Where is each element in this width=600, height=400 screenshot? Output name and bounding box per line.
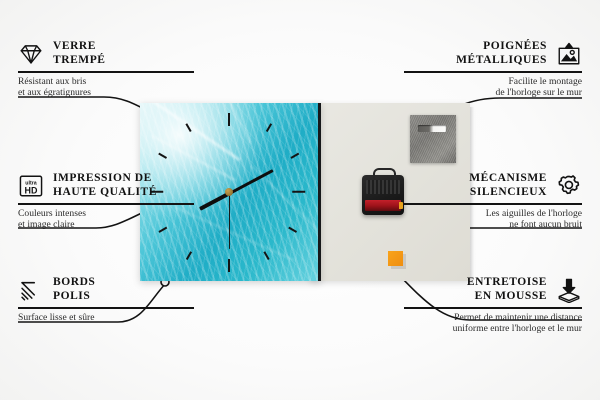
clock-tick <box>158 153 167 159</box>
metal-hanger-plate <box>410 115 456 163</box>
clock-movement <box>362 175 404 215</box>
feather-streak <box>140 103 241 161</box>
feature-impression-haute-qualite: ultra HD IMPRESSION DE HAUTE QUALITÉ Cou… <box>18 172 194 231</box>
feature-title: VERRE TREMPÉ <box>53 40 106 67</box>
feature-entretoise-en-mousse: ENTRETOISE EN MOUSSE Permet de maintenir… <box>404 276 582 335</box>
divider <box>404 307 582 309</box>
feature-title: POIGNÉES MÉTALLIQUES <box>456 40 547 67</box>
feature-desc: Les aiguilles de l'horloge ne font aucun… <box>404 208 582 231</box>
battery <box>365 200 401 211</box>
clock-tick <box>186 251 192 260</box>
divider <box>18 203 194 205</box>
feature-desc: Résistant aux bris et aux égratignures <box>18 76 194 99</box>
clock-tick <box>288 227 297 233</box>
movement-ridges <box>366 180 400 194</box>
feature-desc: Facilite le montage de l'horloge sur le … <box>404 76 582 99</box>
feature-title: MÉCANISME SILENCIEUX <box>469 172 547 199</box>
clock-tick <box>292 191 305 193</box>
ultra-hd-icon: ultra HD <box>18 173 44 199</box>
feature-mecanisme-silencieux: MÉCANISME SILENCIEUX Les aiguilles de l'… <box>404 172 582 231</box>
hanger-keyhole-slot <box>418 125 446 132</box>
clock-tick <box>228 113 230 126</box>
foam-spacer <box>388 251 403 266</box>
divider <box>404 203 582 205</box>
polished-edges-icon <box>18 277 44 303</box>
feature-title: ENTRETOISE EN MOUSSE <box>467 276 547 303</box>
clock-tick <box>264 251 270 260</box>
feature-title: BORDS POLIS <box>53 276 95 303</box>
clock-center-cap <box>225 188 233 196</box>
feature-desc: Surface lisse et sûre <box>18 312 194 324</box>
spacer-arrow-icon <box>556 277 582 303</box>
second-hand <box>229 191 230 249</box>
divider <box>18 307 194 309</box>
feature-bords-polis: BORDS POLIS Surface lisse et sûre <box>18 276 194 323</box>
divider <box>18 71 194 73</box>
feature-desc: Permet de maintenir une distance uniform… <box>404 312 582 335</box>
clock-tick <box>266 123 272 132</box>
movement-hanging-loop <box>373 168 396 180</box>
feature-poignees-metalliques: POIGNÉES MÉTALLIQUES Facilite le montage… <box>404 40 582 99</box>
feature-verre-trempe: VERRE TREMPÉ Résistant aux bris et aux é… <box>18 40 194 99</box>
feature-desc: Couleurs intenses et image claire <box>18 208 194 231</box>
feature-title: IMPRESSION DE HAUTE QUALITÉ <box>53 172 157 199</box>
gear-icon <box>556 173 582 199</box>
divider <box>404 71 582 73</box>
clock-tick <box>290 153 299 159</box>
infographic-canvas: VERRE TREMPÉ Résistant aux bris et aux é… <box>0 0 600 400</box>
feather-streak <box>219 103 251 144</box>
diamond-icon <box>18 41 44 67</box>
clock-tick <box>228 259 230 272</box>
picture-hanger-icon <box>556 41 582 67</box>
svg-text:HD: HD <box>25 185 38 195</box>
